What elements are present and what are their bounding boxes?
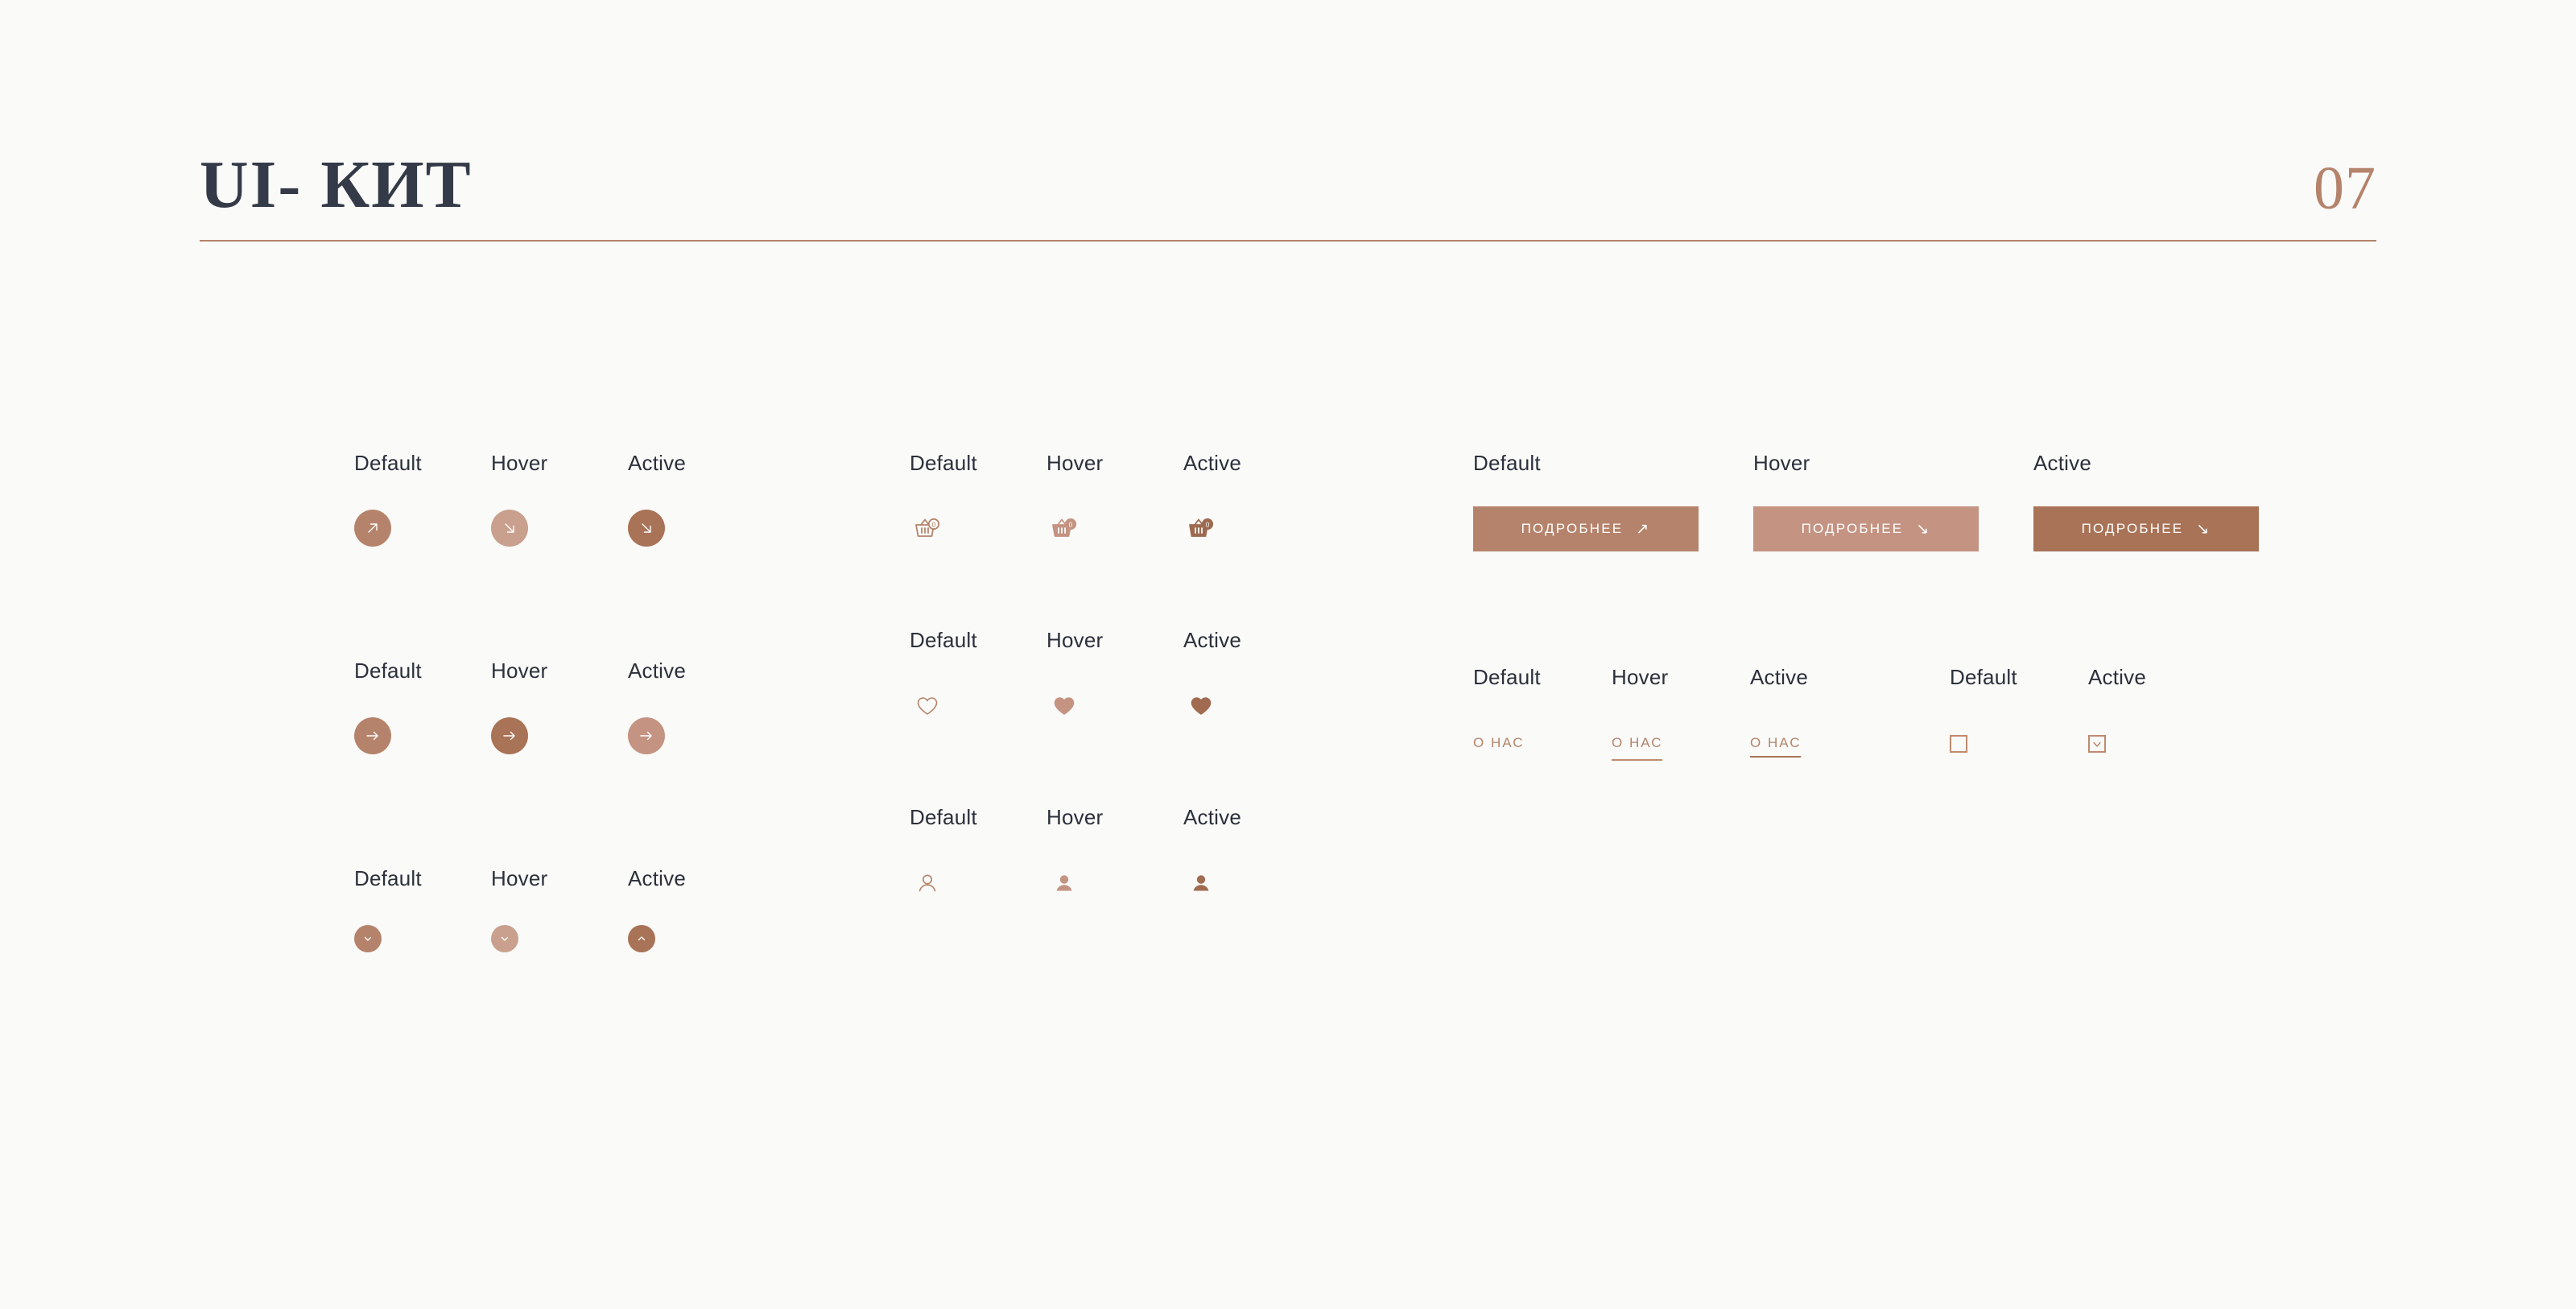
- state-label-active: Active: [1183, 628, 1320, 653]
- page-number: 07: [2314, 159, 2376, 217]
- arrow-circle-button-default[interactable]: [354, 510, 391, 547]
- basket-filled-icon: 0: [1050, 516, 1079, 542]
- arrow-down-right-icon: [502, 520, 518, 536]
- arrow-circle-button-active[interactable]: [628, 510, 665, 547]
- arrow-right-button-hover[interactable]: [491, 717, 528, 754]
- arrow-down-right-icon: ↘: [2196, 522, 2211, 537]
- text-link-active[interactable]: О НАС: [1750, 735, 1801, 758]
- header-divider: [200, 240, 2376, 242]
- state-label-hover: Hover: [1046, 451, 1183, 476]
- state-label-default: Default: [1473, 451, 1753, 476]
- group-person-icons: Default Hover Active: [910, 805, 1320, 901]
- person-icon-active[interactable]: [1183, 865, 1219, 901]
- basket-badge-count: 0: [1069, 520, 1073, 528]
- state-label-hover: Hover: [1046, 805, 1183, 830]
- primary-button-label: ПОДРОБНЕЕ: [2082, 521, 2184, 537]
- state-label-hover: Hover: [491, 659, 628, 683]
- basket-outline-icon: 0: [913, 516, 942, 542]
- state-label-default: Default: [1950, 665, 2088, 690]
- group-arrow-right-circle-buttons: Default Hover Active: [354, 659, 765, 754]
- heart-outline-icon: [915, 695, 939, 717]
- basket-filled-icon: 0: [1187, 516, 1216, 542]
- primary-button-active[interactable]: ПОДРОБНЕЕ ↘: [2033, 506, 2259, 551]
- state-label-active: Active: [1183, 451, 1320, 476]
- group-chevron-circle-buttons: Default Hover Active: [354, 866, 765, 952]
- state-label-default: Default: [354, 659, 491, 683]
- primary-button-slot-hover: Hover ПОДРОБНЕЕ ↘: [1753, 451, 2033, 551]
- checkbox-checked-icon: [2091, 738, 2103, 749]
- group-basket-icons: Default Hover Active 0: [910, 451, 1320, 547]
- arrow-down-right-icon: ↘: [1916, 522, 1930, 537]
- state-label-active: Active: [628, 866, 765, 891]
- basket-icon-active[interactable]: 0: [1183, 511, 1219, 547]
- text-link-default[interactable]: О НАС: [1473, 735, 1524, 756]
- state-label-hover: Hover: [1612, 665, 1750, 690]
- heart-filled-icon: [1189, 695, 1213, 717]
- checkbox-empty-icon: [1953, 738, 1964, 749]
- heart-icon-hover[interactable]: [1046, 688, 1082, 724]
- arrow-right-button-active[interactable]: [628, 717, 665, 754]
- person-filled-icon: [1052, 871, 1076, 895]
- chevron-circle-button-hover[interactable]: [491, 925, 518, 952]
- ui-kit-board: Default Hover Active: [0, 451, 2576, 1175]
- checkbox-default[interactable]: [1950, 735, 1967, 753]
- state-label-hover: Hover: [1753, 451, 2033, 476]
- arrow-down-right-icon: [638, 520, 654, 536]
- arrow-up-right-icon: [365, 520, 381, 536]
- state-label-active: Active: [2088, 665, 2227, 690]
- state-label-hover: Hover: [491, 866, 628, 891]
- state-label-hover: Hover: [1046, 628, 1183, 653]
- primary-button-label: ПОДРОБНЕЕ: [1802, 521, 1904, 537]
- group-primary-buttons: Default ПОДРОБНЕЕ ↗ Hover ПОДРОБНЕЕ ↘ Ac…: [1473, 451, 2314, 551]
- basket-icon-default[interactable]: 0: [910, 511, 945, 547]
- text-link-hover[interactable]: О НАС: [1612, 735, 1662, 761]
- primary-button-hover[interactable]: ПОДРОБНЕЕ ↘: [1753, 506, 1979, 551]
- arrow-right-button-default[interactable]: [354, 717, 391, 754]
- primary-button-label: ПОДРОБНЕЕ: [1521, 521, 1624, 537]
- page-title: UI- КИТ: [200, 153, 473, 217]
- page-header: UI- КИТ 07: [200, 153, 2376, 242]
- basket-badge-count: 0: [1206, 520, 1210, 528]
- primary-button-slot-active: Active ПОДРОБНЕЕ ↘: [2033, 451, 2314, 551]
- basket-icon-hover[interactable]: 0: [1046, 511, 1082, 547]
- state-label-hover: Hover: [491, 451, 628, 476]
- basket-badge-count: 0: [932, 520, 936, 528]
- state-label-default: Default: [354, 451, 491, 476]
- checkbox-slot-default: Default: [1950, 665, 2088, 761]
- state-label-active: Active: [1183, 805, 1320, 830]
- primary-button-default[interactable]: ПОДРОБНЕЕ ↗: [1473, 506, 1699, 551]
- person-icon-default[interactable]: [910, 865, 945, 901]
- chevron-circle-button-active[interactable]: [628, 925, 655, 952]
- state-label-default: Default: [910, 628, 1046, 653]
- person-icon-hover[interactable]: [1046, 865, 1082, 901]
- primary-button-slot-default: Default ПОДРОБНЕЕ ↗: [1473, 451, 1753, 551]
- state-label-default: Default: [910, 451, 1046, 476]
- checkbox-slot-active: Active: [2088, 665, 2227, 761]
- arrow-up-right-icon: ↗: [1636, 522, 1650, 537]
- state-label-active: Active: [1750, 665, 1889, 690]
- state-label-active: Active: [2033, 451, 2314, 476]
- arrow-right-icon: [638, 728, 655, 744]
- chevron-down-icon: [361, 932, 374, 945]
- chevron-down-icon: [498, 932, 511, 945]
- heart-icon-default[interactable]: [910, 688, 945, 724]
- group-links-and-checkboxes: Default О НАС Hover О НАС Active О НАС D…: [1473, 665, 2227, 761]
- arrow-circle-button-hover[interactable]: [491, 510, 528, 547]
- state-label-default: Default: [910, 805, 1046, 830]
- checkbox-active[interactable]: [2088, 735, 2106, 753]
- person-outline-icon: [915, 871, 939, 895]
- text-link-slot-active: Active О НАС: [1750, 665, 1889, 761]
- chevron-up-icon: [635, 932, 648, 945]
- heart-filled-icon: [1052, 695, 1076, 717]
- state-label-default: Default: [1473, 665, 1612, 690]
- state-label-active: Active: [628, 451, 765, 476]
- text-link-slot-hover: Hover О НАС: [1612, 665, 1750, 761]
- person-filled-icon: [1189, 871, 1213, 895]
- arrow-right-icon: [364, 728, 382, 744]
- text-link-slot-default: Default О НАС: [1473, 665, 1612, 761]
- chevron-circle-button-default[interactable]: [354, 925, 382, 952]
- arrow-right-icon: [501, 728, 518, 744]
- group-heart-icons: Default Hover Active: [910, 628, 1320, 724]
- state-label-default: Default: [354, 866, 491, 891]
- group-arrow-circle-buttons: Default Hover Active: [354, 451, 765, 547]
- state-label-active: Active: [628, 659, 765, 683]
- heart-icon-active[interactable]: [1183, 688, 1219, 724]
